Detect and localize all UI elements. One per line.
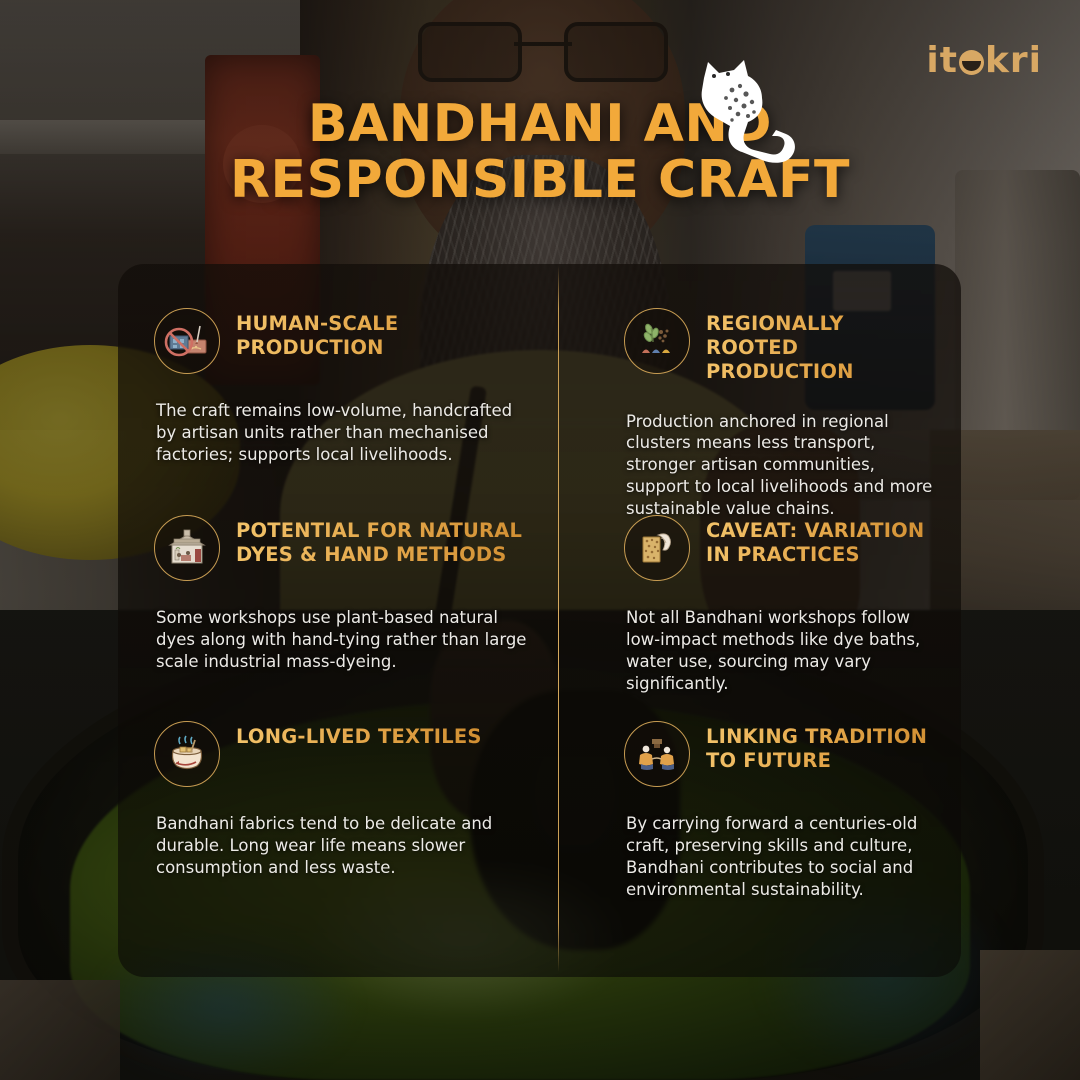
brand-logo-text: itkri bbox=[926, 40, 1042, 81]
logo-text-after: kri bbox=[985, 40, 1042, 81]
page-title: BANDHANI AND RESPONSIBLE CRAFT bbox=[0, 96, 1080, 208]
workshop-building-icon bbox=[154, 515, 220, 581]
card-title: HUMAN-SCALE PRODUCTION bbox=[236, 308, 530, 360]
card-title: LINKING TRADITION TO FUTURE bbox=[706, 721, 937, 773]
benefit-card-regionally-rooted-production: REGIONALLY ROOTED PRODUCTION Production … bbox=[558, 264, 961, 471]
page-title-line-1: BANDHANI AND bbox=[0, 96, 1080, 152]
dye-pot-icon bbox=[154, 721, 220, 787]
card-title: POTENTIAL FOR NATURAL DYES & HAND METHOD… bbox=[236, 515, 530, 567]
two-artisans-icon bbox=[624, 721, 690, 787]
brand-logo[interactable]: itkri bbox=[926, 40, 1042, 81]
card-header: HUMAN-SCALE PRODUCTION bbox=[154, 264, 530, 374]
card-body: Bandhani fabrics tend to be delicate and… bbox=[154, 787, 530, 879]
page-title-line-2: RESPONSIBLE CRAFT bbox=[0, 152, 1080, 208]
logo-o-glyph-icon bbox=[959, 50, 984, 75]
benefit-card-human-scale-production: HUMAN-SCALE PRODUCTION The craft remains… bbox=[118, 264, 558, 471]
card-header: CAVEAT: VARIATION IN PRACTICES bbox=[624, 471, 937, 581]
card-title: REGIONALLY ROOTED PRODUCTION bbox=[706, 308, 937, 385]
card-header: LINKING TRADITION TO FUTURE bbox=[624, 677, 937, 787]
card-header: REGIONALLY ROOTED PRODUCTION bbox=[624, 264, 937, 385]
benefit-card-linking-tradition-to-future: LINKING TRADITION TO FUTURE By carrying … bbox=[558, 677, 961, 977]
benefit-card-caveat-variation-in-practices: CAVEAT: VARIATION IN PRACTICES Not all B… bbox=[558, 471, 961, 677]
benefits-grid: HUMAN-SCALE PRODUCTION The craft remains… bbox=[118, 264, 961, 977]
card-header: LONG-LIVED TEXTILES bbox=[154, 677, 530, 787]
card-body: By carrying forward a centuries-old craf… bbox=[624, 787, 937, 901]
card-title: CAVEAT: VARIATION IN PRACTICES bbox=[706, 515, 937, 567]
natural-dye-ingredients-icon bbox=[624, 308, 690, 374]
card-title: LONG-LIVED TEXTILES bbox=[236, 721, 482, 749]
benefit-card-potential-for-natural-dyes: POTENTIAL FOR NATURAL DYES & HAND METHOD… bbox=[118, 471, 558, 677]
cat-illustration-icon bbox=[686, 56, 804, 166]
hand-holding-fabric-icon bbox=[624, 515, 690, 581]
logo-text-before: it bbox=[926, 40, 958, 81]
benefit-card-long-lived-textiles: LONG-LIVED TEXTILES Bandhani fabrics ten… bbox=[118, 677, 558, 977]
page-title-block: BANDHANI AND RESPONSIBLE CRAFT bbox=[0, 96, 1080, 208]
card-header: POTENTIAL FOR NATURAL DYES & HAND METHOD… bbox=[154, 471, 530, 581]
card-body: Some workshops use plant-based natural d… bbox=[154, 581, 530, 673]
no-factory-icon bbox=[154, 308, 220, 374]
card-body: The craft remains low-volume, handcrafte… bbox=[154, 374, 530, 466]
infographic-canvas: itkri BANDHANI AND RESPONSIBLE CRAFT bbox=[0, 0, 1080, 1080]
